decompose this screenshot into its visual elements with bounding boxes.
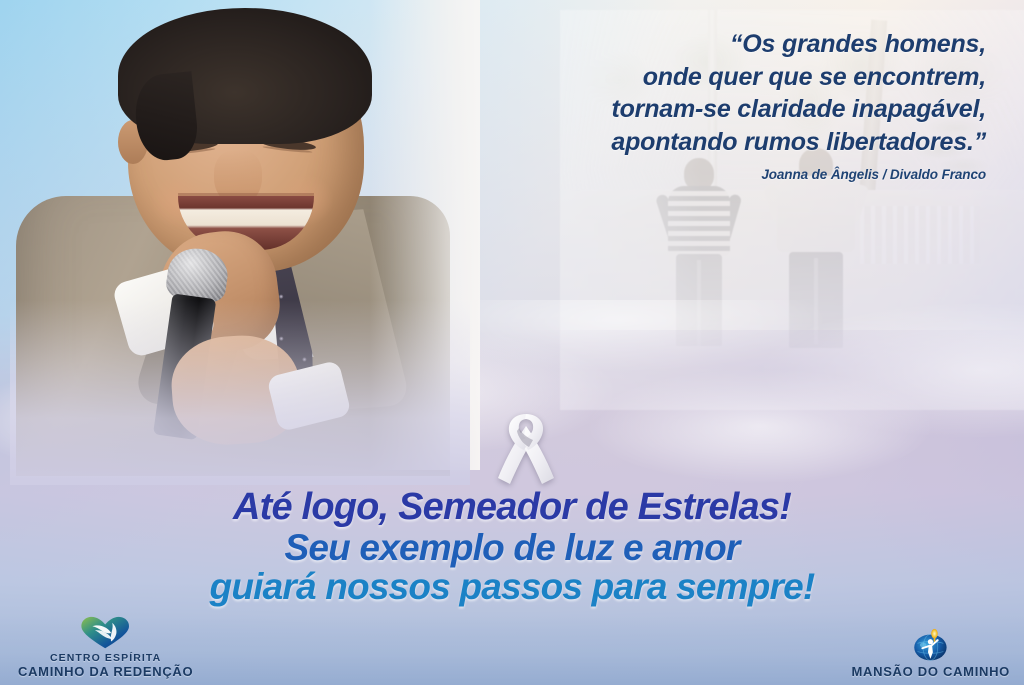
quote-line-4: apontando rumos libertadores.”: [326, 126, 986, 159]
quote-line-1: “Os grandes homens,: [326, 28, 986, 61]
logo-left-text: CENTRO ESPÍRITA CAMINHO DA REDENÇÃO: [18, 652, 193, 679]
logo-mansao-do-caminho: MANSÃO DO CAMINHO: [851, 628, 1010, 679]
quote-line-2: onde quer que se encontrem,: [326, 61, 986, 94]
quote-line-3: tornam-se claridade inapagável,: [326, 93, 986, 126]
logo-centro-espirita: CENTRO ESPÍRITA CAMINHO DA REDENÇÃO: [18, 616, 193, 679]
headline-line-1: Até logo, Semeador de Estrelas!: [0, 487, 1024, 528]
white-mourning-ribbon-icon: [486, 410, 566, 488]
globe-torch-icon: [911, 628, 950, 662]
logo-right-text: MANSÃO DO CAMINHO: [851, 664, 1010, 679]
headline-line-2: Seu exemplo de luz e amor: [0, 528, 1024, 568]
portrait-bottom-fade: [10, 300, 470, 485]
logo-left-line-1: CENTRO ESPÍRITA: [18, 652, 193, 664]
headline-block: Até logo, Semeador de Estrelas! Seu exem…: [0, 487, 1024, 607]
heart-hands-icon: [78, 616, 132, 650]
logo-left-line-2: CAMINHO DA REDENÇÃO: [18, 664, 193, 679]
logo-right-line-1: MANSÃO DO CAMINHO: [851, 664, 1010, 679]
memorial-poster: “Os grandes homens, onde quer que se enc…: [0, 0, 1024, 685]
quote-attribution: Joanna de Ângelis / Divaldo Franco: [326, 167, 986, 182]
quote-block: “Os grandes homens, onde quer que se enc…: [326, 28, 986, 182]
headline-line-3: guiará nossos passos para sempre!: [0, 567, 1024, 607]
